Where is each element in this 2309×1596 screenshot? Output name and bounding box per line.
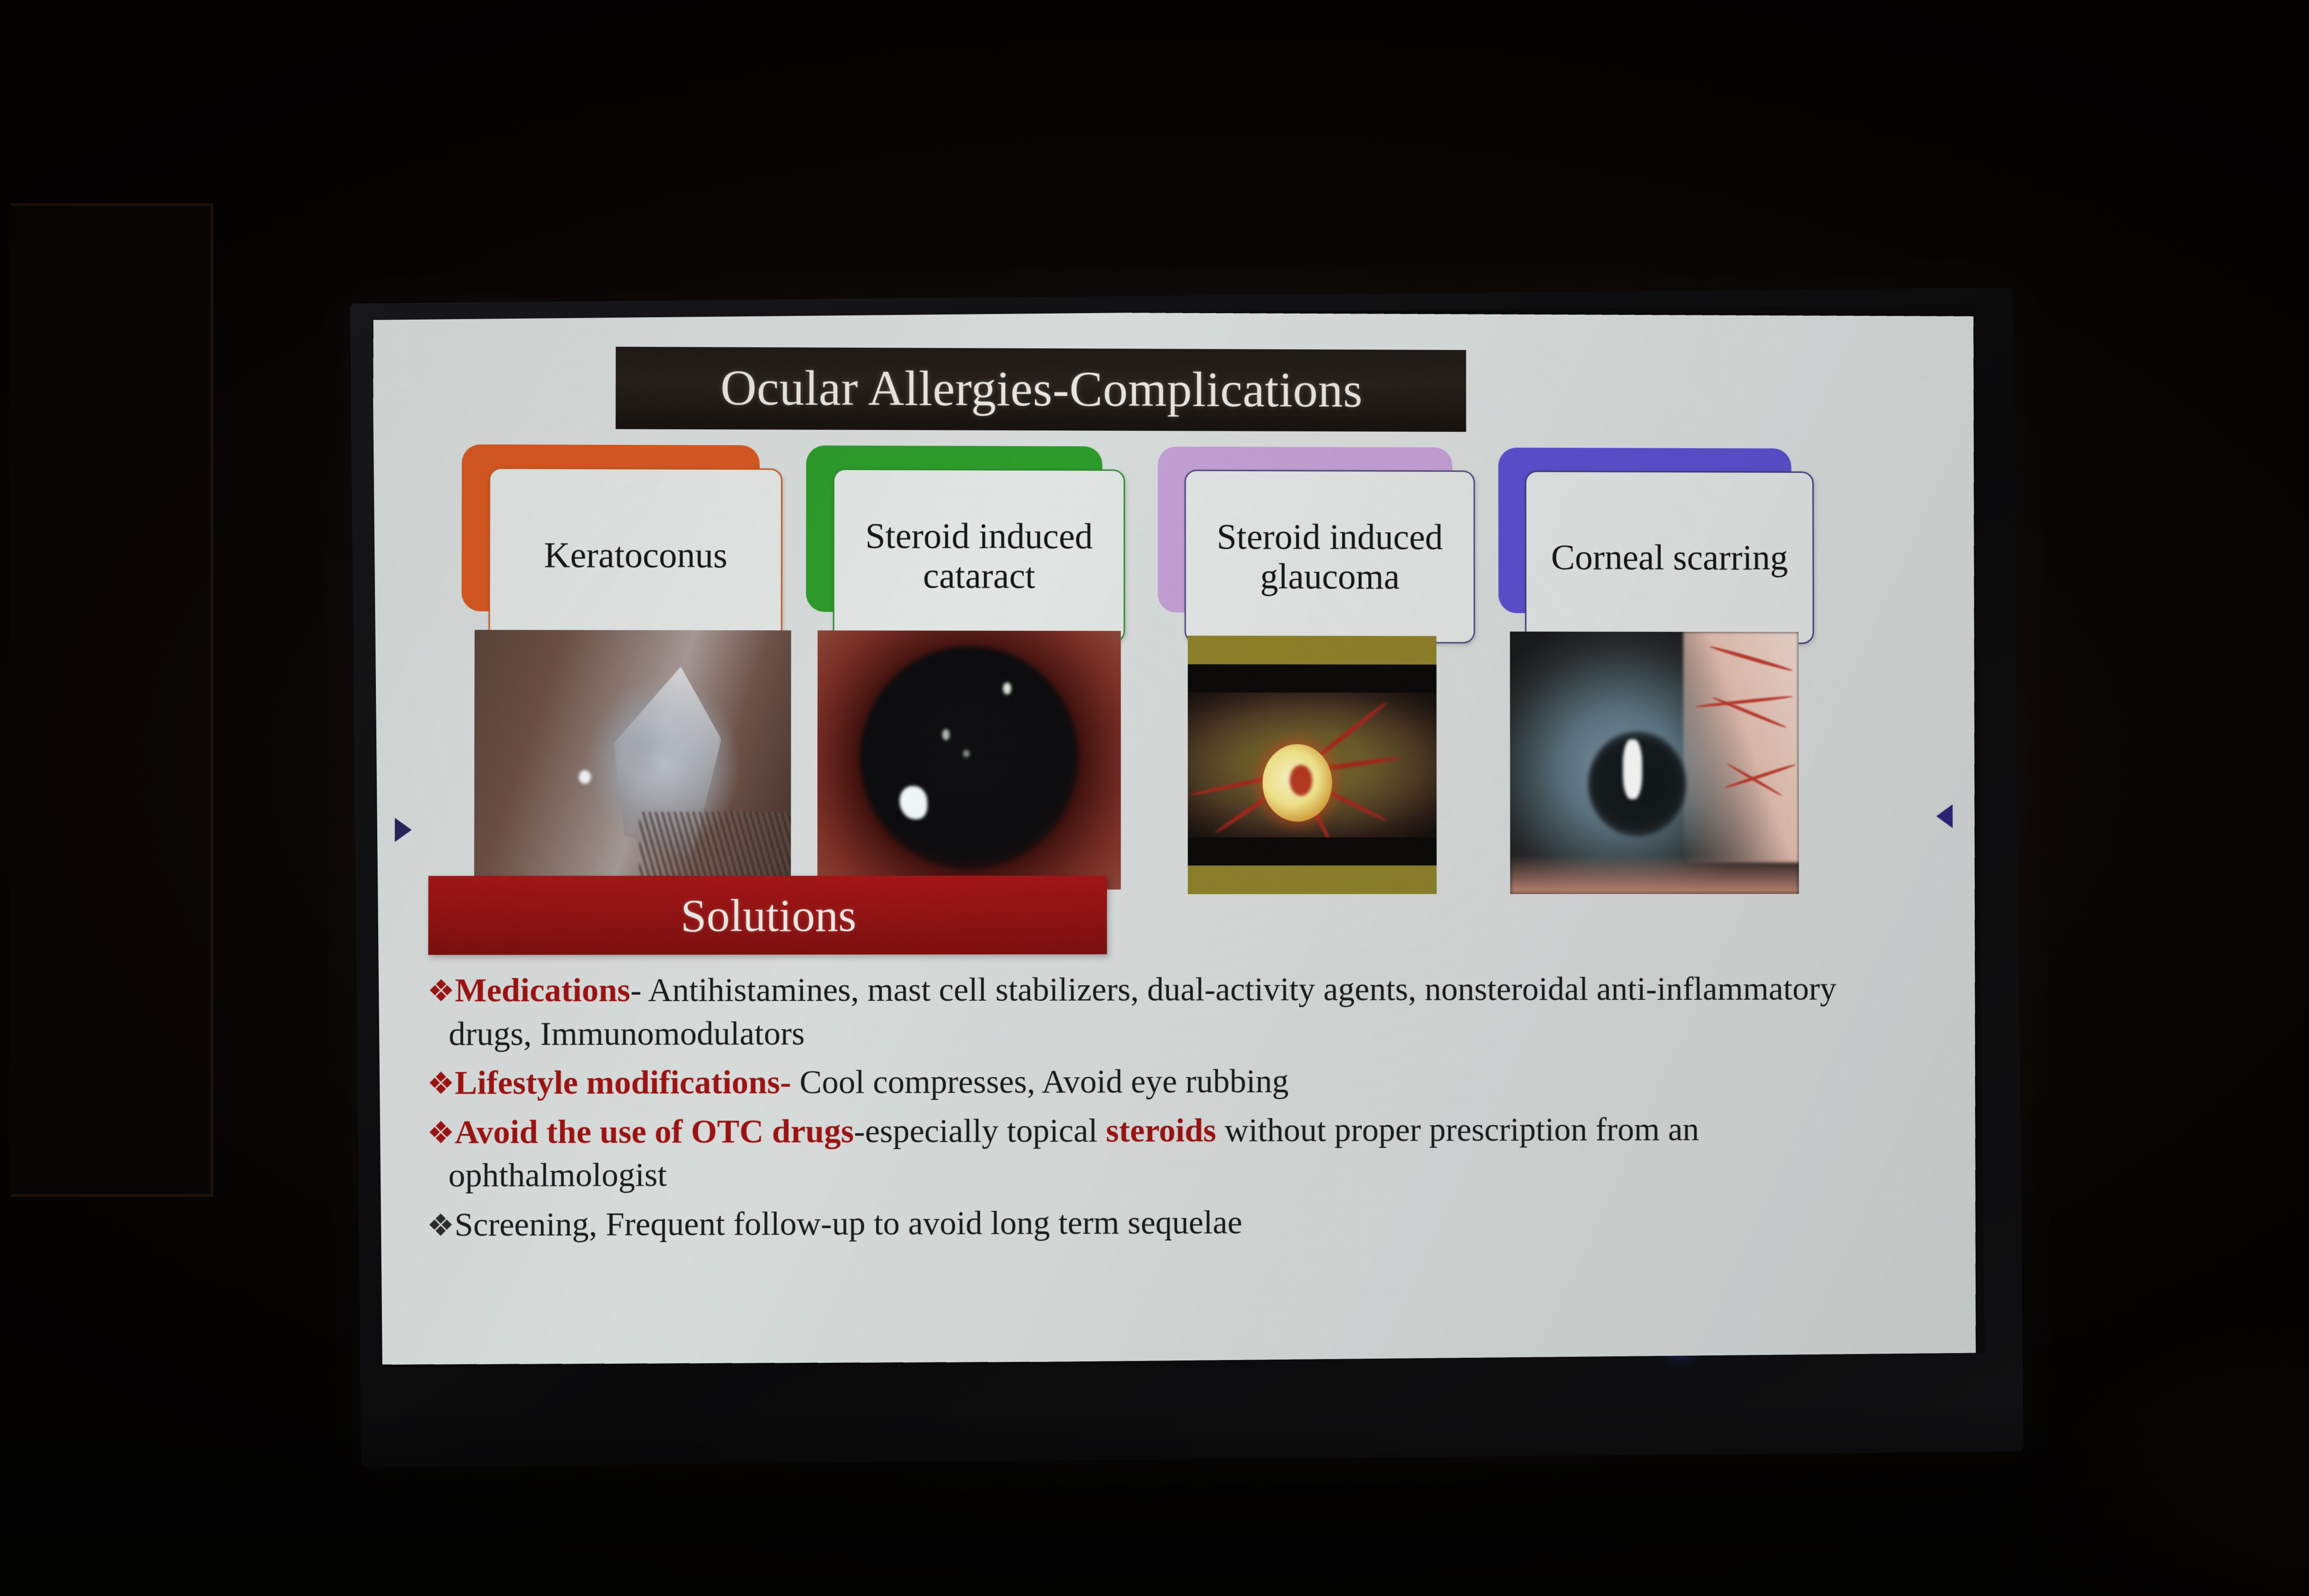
complication-card-glaucoma[interactable]: Steroid induced glaucoma	[1158, 447, 1475, 641]
dark-room-background: Ocular Allergies-Complications Keratocon…	[0, 0, 2309, 1596]
card-label: Corneal scarring	[1543, 538, 1796, 578]
solutions-bullet-list: ❖Medications- Antihistamines, mast cell …	[427, 967, 1920, 1252]
lower-eyelid	[1510, 854, 1799, 894]
glaucoma-fundus-photo	[1188, 635, 1437, 894]
bullet-rest-a: -especially topical	[854, 1112, 1106, 1150]
lens-opacity	[1003, 683, 1011, 695]
bullet-rest: - Antihistamines, mast cell stabilizers,…	[448, 970, 1836, 1052]
wall-frame-decor	[9, 203, 213, 1197]
bullet-lead: Medications	[455, 972, 630, 1009]
pupil	[860, 646, 1078, 869]
diamond-bullet-icon: ❖	[427, 974, 455, 1009]
keratoconus-eye-photo	[474, 630, 791, 890]
bullet-rest: Screening, Frequent follow-up to avoid l…	[454, 1203, 1242, 1243]
diamond-bullet-icon: ❖	[427, 1116, 455, 1150]
bullet-item-lifestyle: ❖Lifestyle modifications- Cool compresse…	[427, 1059, 1920, 1105]
complication-card-cataract[interactable]: Steroid induced cataract	[806, 446, 1125, 641]
slide-title-bar: Ocular Allergies-Complications	[616, 347, 1466, 432]
presentation-slide: Ocular Allergies-Complications Keratocon…	[372, 309, 1976, 1365]
complication-card-keratoconus[interactable]: Keratoconus	[461, 444, 783, 640]
slide-title: Ocular Allergies-Complications	[720, 360, 1363, 419]
lens-opacity	[942, 729, 949, 740]
card-face: Keratoconus	[489, 468, 782, 642]
card-face: Corneal scarring	[1525, 471, 1814, 644]
image-band	[1188, 865, 1437, 894]
diamond-bullet-icon: ❖	[427, 1067, 455, 1101]
light-reflex	[1623, 739, 1642, 799]
complication-card-corneal-scarring[interactable]: Corneal scarring	[1498, 447, 1814, 641]
triangle-left-icon[interactable]	[1936, 804, 1953, 828]
card-label: Steroid induced cataract	[834, 516, 1124, 596]
card-label: Keratoconus	[536, 535, 736, 575]
lens-opacity	[963, 750, 970, 757]
projected-screen: Ocular Allergies-Complications Keratocon…	[372, 305, 1985, 1368]
room-floor-shadow	[0, 1402, 2309, 1596]
bullet-rest: Cool compresses, Avoid eye rubbing	[791, 1063, 1288, 1100]
card-face: Steroid induced cataract	[833, 469, 1125, 643]
bullet-item-screening: ❖Screening, Frequent follow-up to avoid …	[427, 1199, 1920, 1247]
image-mask	[1188, 837, 1437, 866]
bullet-lead: Lifestyle modifications-	[455, 1064, 792, 1101]
image-band	[1188, 635, 1437, 664]
bullet-highlight: steroids	[1106, 1112, 1216, 1149]
image-mask	[1188, 664, 1437, 693]
bullet-lead: Avoid the use of OTC drugs	[454, 1112, 854, 1150]
triangle-right-icon[interactable]	[395, 818, 412, 842]
optic-cup	[1290, 765, 1312, 796]
bullet-item-medications: ❖Medications- Antihistamines, mast cell …	[427, 967, 1919, 1056]
corneal-scarring-photo	[1510, 632, 1799, 894]
solutions-banner: Solutions	[428, 876, 1107, 955]
diamond-bullet-icon: ❖	[427, 1209, 454, 1243]
bullet-item-otc-drugs: ❖Avoid the use of OTC drugs-especially t…	[427, 1107, 1920, 1198]
card-face: Steroid induced glaucoma	[1185, 470, 1475, 643]
wall-display-monitor: Ocular Allergies-Complications Keratocon…	[350, 288, 2024, 1467]
cataract-iris-photo	[817, 630, 1121, 889]
solutions-heading: Solutions	[681, 889, 856, 942]
card-label: Steroid induced glaucoma	[1186, 517, 1474, 597]
